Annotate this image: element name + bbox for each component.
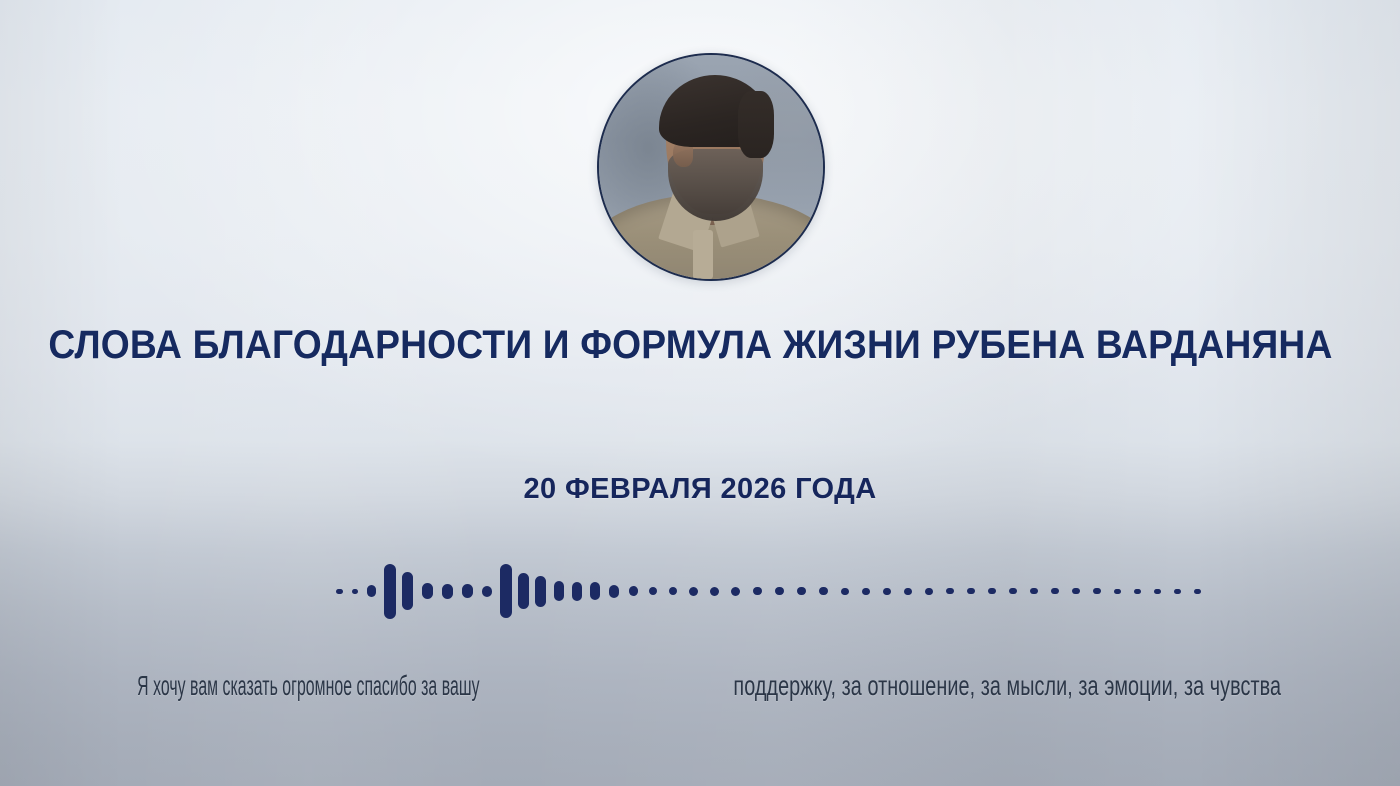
waveform-gap: [1161, 591, 1174, 592]
waveform-gap: [954, 591, 967, 592]
waveform-gap: [343, 591, 352, 592]
waveform-gap: [677, 591, 689, 592]
waveform-gap: [619, 591, 629, 592]
waveform-bar: [402, 572, 413, 610]
waveform-gap: [600, 591, 609, 592]
waveform-gap: [413, 591, 422, 592]
waveform-bar: [731, 587, 740, 596]
waveform-gap: [1017, 591, 1030, 592]
audio-waveform-icon: [336, 556, 1126, 626]
waveform-bar: [841, 588, 849, 595]
waveform-gap: [933, 591, 946, 592]
waveform-bar: [367, 585, 376, 597]
waveform-gap: [740, 591, 753, 592]
waveform-bar: [1114, 589, 1121, 594]
waveform-gap: [996, 591, 1009, 592]
waveform-gap: [376, 591, 384, 592]
caption-line-1: Я хочу вам сказать огромное спасибо за в…: [138, 666, 480, 705]
waveform-bar: [609, 585, 619, 598]
waveform-gap: [473, 591, 482, 592]
waveform-bar: [1030, 588, 1038, 594]
waveform-bar: [988, 588, 996, 594]
waveform-gap: [453, 591, 462, 592]
waveform-gap: [849, 591, 862, 592]
waveform-gap: [762, 591, 775, 592]
waveform-bar: [500, 564, 512, 618]
waveform-gap: [975, 591, 988, 592]
waveform-bar: [462, 584, 473, 598]
waveform-gap: [828, 591, 841, 592]
waveform-bar: [689, 587, 698, 596]
waveform-bar: [482, 586, 492, 597]
waveform-bar: [1174, 589, 1181, 594]
page-title: СЛОВА БЛАГОДАРНОСТИ И ФОРМУЛА ЖИЗНИ РУБЕ…: [48, 322, 1332, 368]
waveform-bar: [590, 582, 600, 600]
portrait-photo: [597, 53, 825, 281]
caption-line-2: поддержку, за отношение, за мысли, за эм…: [733, 666, 1281, 705]
waveform-bar: [572, 582, 582, 601]
waveform-bar: [775, 587, 784, 595]
waveform-bar: [883, 588, 891, 595]
waveform-bar: [1154, 589, 1161, 594]
waveform-gap: [546, 591, 554, 592]
waveform-gap: [1059, 591, 1072, 592]
waveform-bar: [1051, 588, 1059, 594]
waveform-bar: [518, 573, 529, 609]
waveform-gap: [638, 591, 649, 592]
waveform-gap: [1101, 591, 1114, 592]
waveform-bar: [862, 588, 870, 595]
waveform-bar: [819, 587, 828, 595]
waveform-bar: [535, 576, 546, 607]
waveform-bar: [1072, 588, 1080, 594]
waveform-bar: [967, 588, 975, 594]
waveform-bar: [336, 589, 343, 594]
waveform-gap: [564, 591, 572, 592]
waveform-gap: [1181, 591, 1194, 592]
waveform-gap: [806, 591, 819, 592]
waveform-gap: [1038, 591, 1051, 592]
date-label: 20 ФЕВРАЛЯ 2026 ГОДА: [0, 472, 1400, 506]
waveform-bar: [442, 584, 453, 599]
avatar: [597, 53, 825, 281]
waveform-bar: [669, 587, 677, 595]
waveform-bar: [1134, 589, 1141, 594]
slide-canvas: СЛОВА БЛАГОДАРНОСТИ И ФОРМУЛА ЖИЗНИ РУБЕ…: [0, 0, 1400, 786]
waveform-bar: [649, 587, 657, 595]
waveform-gap: [358, 591, 367, 592]
waveform-bar: [753, 587, 762, 595]
waveform-bar: [1194, 589, 1201, 594]
waveform-bar: [904, 588, 912, 595]
waveform-gap: [784, 591, 797, 592]
waveform-bar: [422, 583, 433, 599]
waveform-gap: [1141, 591, 1154, 592]
waveform-gap: [698, 591, 710, 592]
headline-block: СЛОВА БЛАГОДАРНОСТИ И ФОРМУЛА ЖИЗНИ РУБЕ…: [0, 322, 1400, 368]
waveform-gap: [870, 591, 883, 592]
waveform-bar: [1009, 588, 1017, 594]
subtitle-caption: Я хочу вам сказать огромное спасибо за в…: [0, 666, 1400, 705]
waveform-gap: [912, 591, 925, 592]
portrait-placket: [693, 230, 713, 279]
waveform-gap: [433, 591, 442, 592]
waveform-bar: [554, 581, 564, 601]
waveform-bar: [710, 587, 719, 596]
waveform-bar: [946, 588, 954, 594]
waveform-gap: [1121, 591, 1134, 592]
waveform-gap: [492, 591, 500, 592]
waveform-gap: [582, 591, 590, 592]
portrait-hair-side: [738, 91, 774, 158]
waveform-gap: [1080, 591, 1093, 592]
waveform-gap: [891, 591, 904, 592]
waveform-bar: [384, 564, 396, 619]
waveform-gap: [657, 591, 669, 592]
waveform-bar: [629, 586, 638, 596]
waveform-bar: [797, 587, 806, 595]
waveform-gap: [719, 591, 731, 592]
waveform-bar: [925, 588, 933, 595]
waveform-bar: [1093, 588, 1101, 594]
